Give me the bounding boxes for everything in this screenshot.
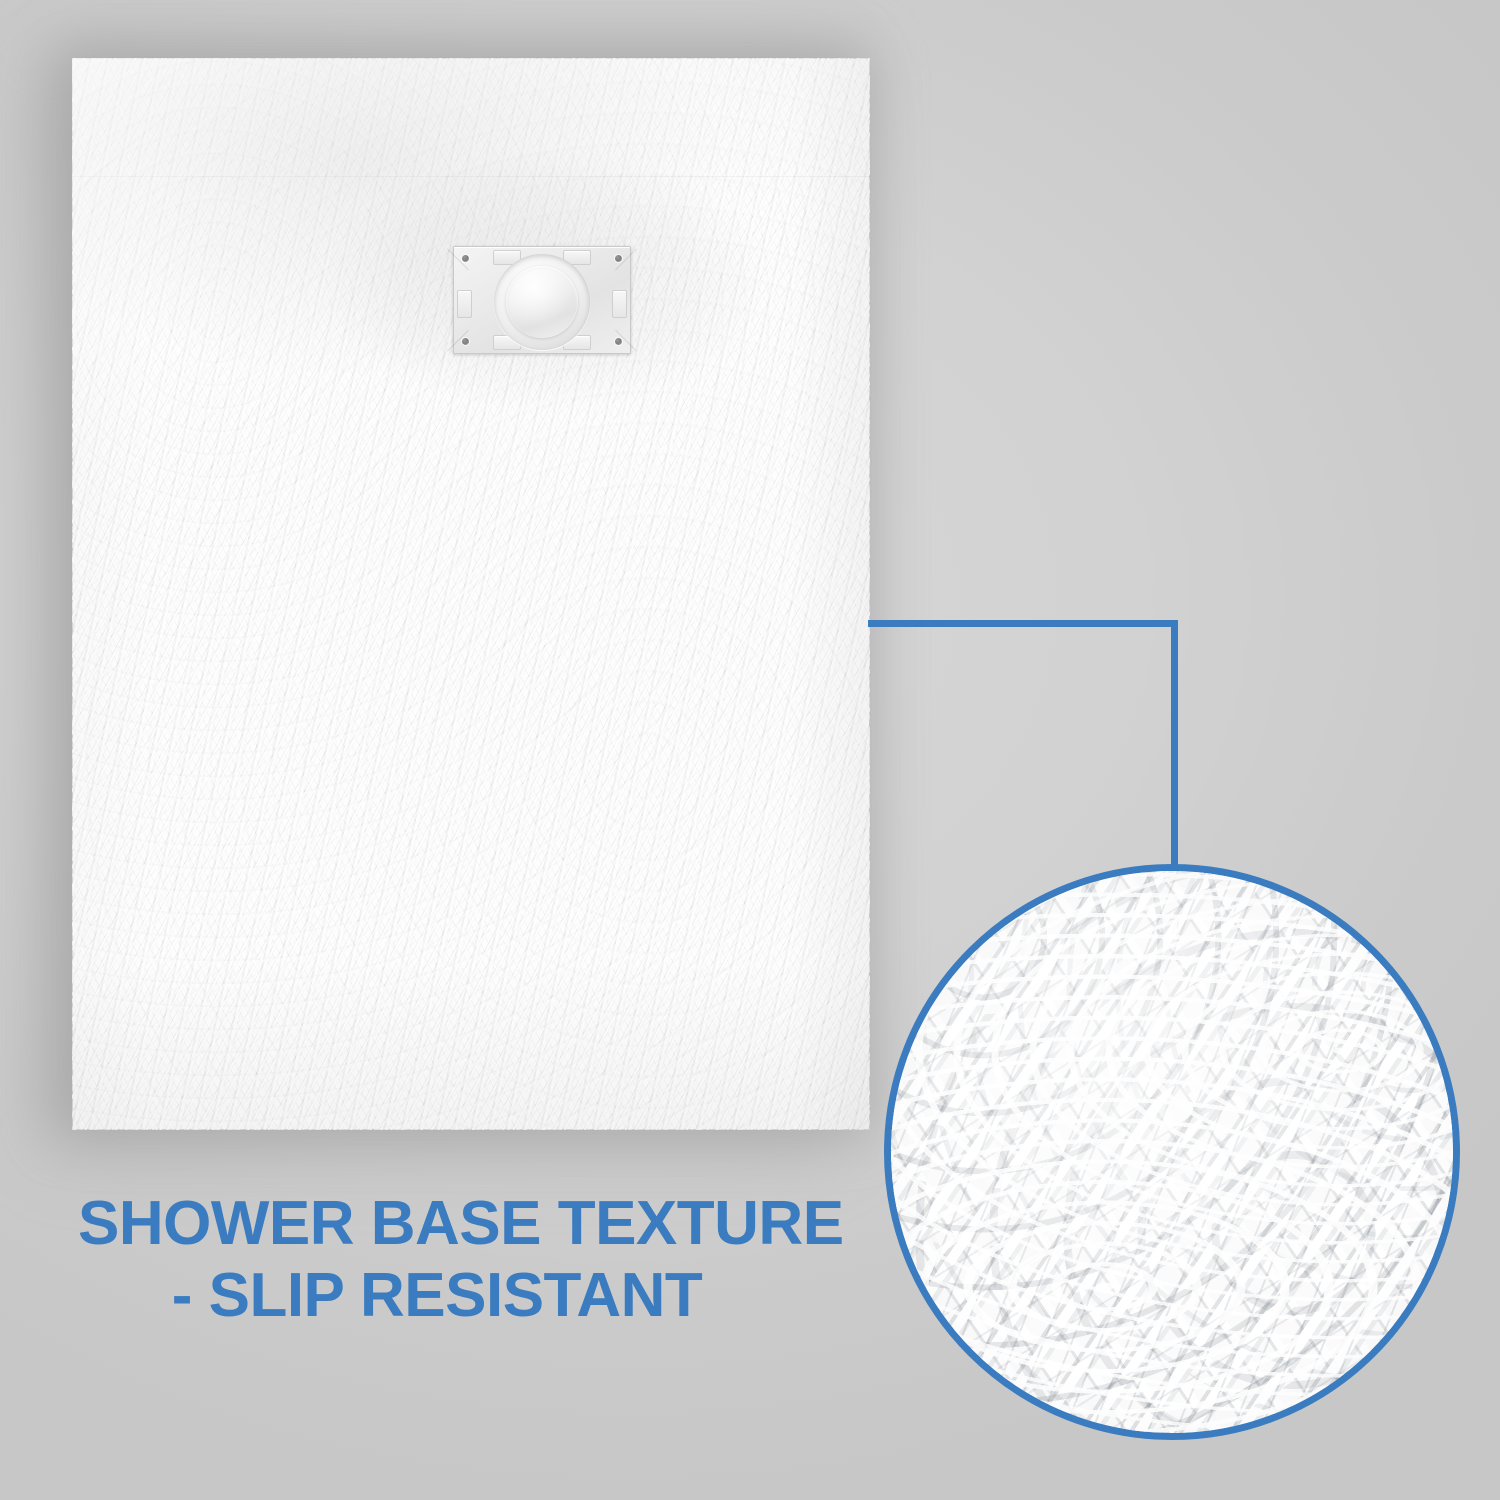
caption: SHOWER BASE TEXTURE - SLIP RESISTANT [78,1188,868,1332]
product-image-canvas: SHOWER BASE TEXTURE - SLIP RESISTANT [0,0,1500,1500]
shower-base [72,58,870,1130]
drain-plate-chamfer-bottom-left [447,330,487,370]
drain-tab-left [457,290,472,318]
drain-plate-chamfer-bottom-right [597,330,637,370]
drain-screw-top-right [615,255,622,262]
drain-plate-chamfer-top-right [597,230,637,270]
texture-magnifier [884,864,1460,1440]
drain-cover-highlight [509,269,575,335]
caption-line-1: SHOWER BASE TEXTURE [78,1188,868,1260]
drain-plate-chamfer-top-left [447,230,487,270]
callout-line-horizontal [868,620,1178,627]
drain-screw-bottom-left [462,338,469,345]
caption-line-2: - SLIP RESISTANT [78,1260,868,1332]
base-texture-layer-b [72,58,870,1130]
magnifier-texture-layer-d [884,864,1460,1440]
base-rim-line [72,176,870,177]
callout-line-vertical [1171,620,1178,868]
drain-screw-top-left [462,255,469,262]
base-texture-layer-c [72,58,870,1130]
base-sheen-overlay [72,58,870,1130]
base-texture-layer-a [72,58,870,1130]
drain-screw-bottom-right [615,338,622,345]
drain-plate [453,246,631,354]
drain-assembly [453,246,631,354]
drain-tab-right [612,290,627,318]
